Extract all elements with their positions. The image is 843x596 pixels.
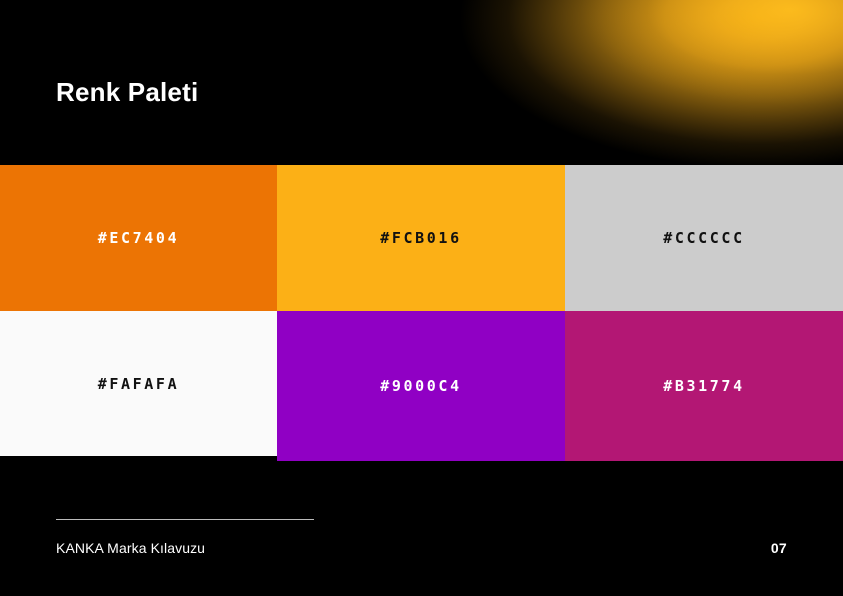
swatch-hex-label: #B31774	[663, 377, 744, 395]
page-number: 07	[771, 540, 787, 556]
color-swatch-orange[interactable]: #EC7404	[0, 165, 277, 311]
color-swatch-off-white[interactable]: #FAFAFA	[0, 311, 277, 456]
swatch-hex-label: #9000C4	[380, 377, 461, 395]
color-swatch-magenta[interactable]: #B31774	[565, 311, 843, 461]
swatch-hex-label: #EC7404	[98, 229, 179, 247]
swatch-hex-label: #FAFAFA	[98, 375, 179, 393]
color-swatch-light-gray[interactable]: #CCCCCC	[565, 165, 843, 311]
slide-root: Renk Paleti #EC7404 #FCB016 #CCCCCC #FAF…	[0, 0, 843, 596]
swatch-hex-label: #FCB016	[380, 229, 461, 247]
color-swatch-grid: #EC7404 #FCB016 #CCCCCC #FAFAFA #9000C4 …	[0, 165, 843, 461]
page-title: Renk Paleti	[56, 77, 198, 108]
color-swatch-purple[interactable]: #9000C4	[277, 311, 565, 461]
color-swatch-amber[interactable]: #FCB016	[277, 165, 565, 311]
footer-brand-text: KANKA Marka Kılavuzu	[56, 540, 205, 556]
footer-divider	[56, 519, 314, 520]
swatch-hex-label: #CCCCCC	[663, 229, 744, 247]
